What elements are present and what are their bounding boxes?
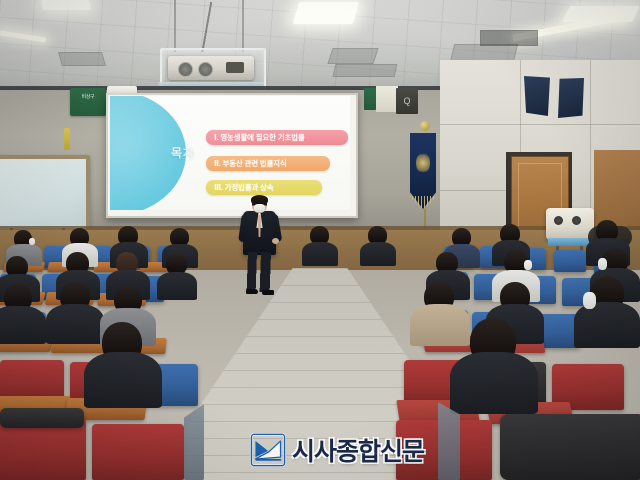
ceiling-vent bbox=[333, 64, 398, 77]
photo-canvas: 비상구 2 Q 목차 Ⅰ. 영농생활에 필요한 기초법률 Ⅱ. 부동산 관련 법… bbox=[0, 0, 640, 480]
audience-body bbox=[302, 242, 338, 266]
watermark-text: 시사종합신문 bbox=[292, 432, 424, 468]
white-sign-right bbox=[376, 86, 398, 112]
seat bbox=[554, 250, 586, 272]
presenter-hair bbox=[251, 195, 268, 204]
audience-body bbox=[157, 272, 197, 300]
flag-finial bbox=[420, 121, 430, 131]
audience-body bbox=[0, 306, 46, 344]
seat bbox=[92, 424, 184, 480]
presenter-legs bbox=[246, 252, 273, 292]
av-knob-icon bbox=[554, 216, 563, 225]
emergency-sign-right bbox=[364, 88, 376, 110]
audience-body bbox=[574, 302, 640, 348]
wall-speaker-icon bbox=[558, 78, 584, 118]
av-cart-shelf bbox=[548, 238, 592, 246]
projector-fan-icon bbox=[178, 62, 193, 77]
screen-glare bbox=[106, 93, 354, 214]
audience-body bbox=[84, 352, 162, 408]
face-mask bbox=[598, 258, 607, 270]
ceiling-vent bbox=[58, 52, 106, 66]
audience-body bbox=[360, 242, 396, 266]
seat bbox=[500, 414, 640, 480]
av-equipment bbox=[546, 208, 594, 240]
emergency-exit-sign: 비상구 bbox=[70, 88, 106, 116]
audience-body bbox=[450, 352, 538, 414]
projector-mount-rods bbox=[168, 0, 254, 52]
face-mask bbox=[583, 292, 596, 309]
seat bbox=[0, 408, 84, 428]
presenter-hand bbox=[272, 238, 279, 244]
presenter-shoe bbox=[262, 290, 274, 295]
ceiling-vent bbox=[327, 48, 378, 64]
face-mask bbox=[524, 260, 532, 270]
av-knob-icon bbox=[572, 216, 581, 225]
dark-sign-label: Q bbox=[396, 88, 418, 114]
presenter-shoe bbox=[246, 289, 258, 294]
audience-body bbox=[410, 304, 470, 346]
ceiling-light bbox=[293, 2, 359, 24]
wall-seam bbox=[440, 124, 640, 125]
ceiling-light bbox=[41, 0, 91, 10]
emergency-exit-sign-label: 비상구 bbox=[70, 88, 106, 101]
dark-sign-right: Q bbox=[396, 88, 418, 114]
flag-emblem-icon bbox=[416, 152, 430, 174]
face-mask bbox=[29, 238, 35, 245]
seat-armrest bbox=[438, 402, 460, 480]
projector-panel bbox=[226, 62, 244, 73]
ceiling-vent bbox=[480, 30, 538, 46]
watermark: 시사종합신문 bbox=[250, 432, 424, 468]
bottle bbox=[64, 128, 70, 150]
wall-speaker-icon bbox=[524, 76, 550, 116]
open-book-icon bbox=[250, 433, 286, 467]
presenter-face-mask bbox=[254, 204, 265, 212]
audience-body bbox=[46, 304, 104, 344]
projector-fan-icon bbox=[198, 62, 213, 77]
